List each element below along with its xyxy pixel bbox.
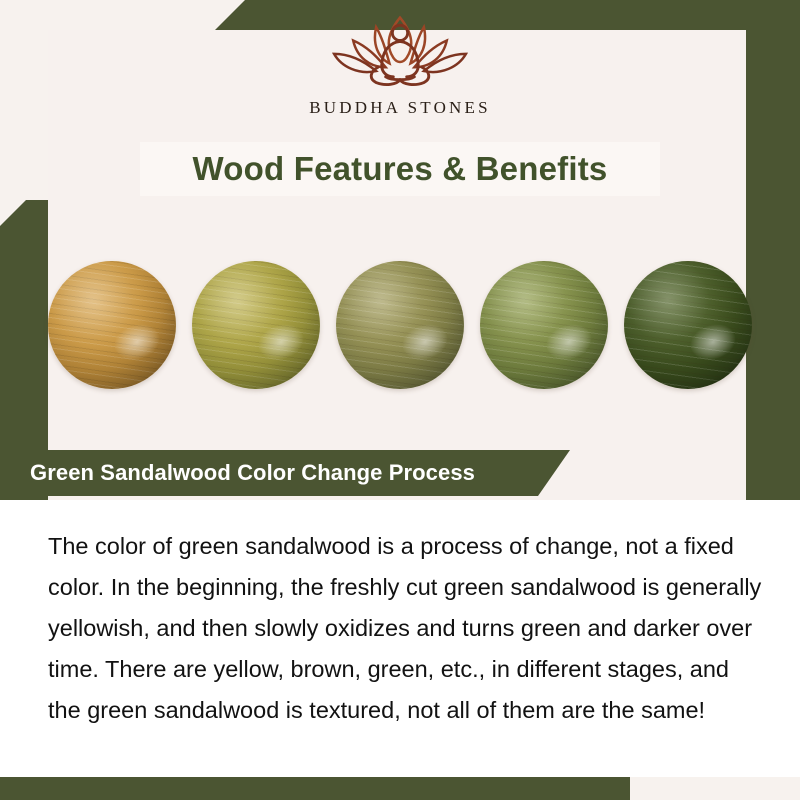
page-title-text: Wood Features & Benefits	[193, 150, 608, 188]
bead-stage-5	[624, 261, 752, 389]
page-title: Wood Features & Benefits	[140, 142, 660, 196]
bead-shading-2	[192, 261, 320, 389]
brand-name: BUDDHA STONES	[309, 98, 491, 118]
bead-stage-1	[48, 261, 176, 389]
bead-shading-5	[624, 261, 752, 389]
frame-bottom-bar	[0, 776, 630, 800]
poster-root: BUDDHA STONES Wood Features & Benefits G…	[0, 0, 800, 800]
bead-shading-3	[336, 261, 464, 389]
bead-stage-3	[336, 261, 464, 389]
section-banner: Green Sandalwood Color Change Process	[0, 450, 570, 496]
bead-row	[0, 250, 800, 400]
body-panel-inner: The color of green sandalwood is a proce…	[48, 526, 764, 731]
bead-shading-4	[480, 261, 608, 389]
lotus-meditation-figure-icon	[317, 8, 483, 94]
body-paragraph: The color of green sandalwood is a proce…	[48, 526, 764, 731]
section-banner-title: Green Sandalwood Color Change Process	[30, 460, 475, 486]
bead-stage-2	[192, 261, 320, 389]
bead-stage-4	[480, 261, 608, 389]
brand-logo: BUDDHA STONES	[0, 8, 800, 118]
bead-shading-1	[48, 261, 176, 389]
body-panel: The color of green sandalwood is a proce…	[0, 500, 800, 777]
